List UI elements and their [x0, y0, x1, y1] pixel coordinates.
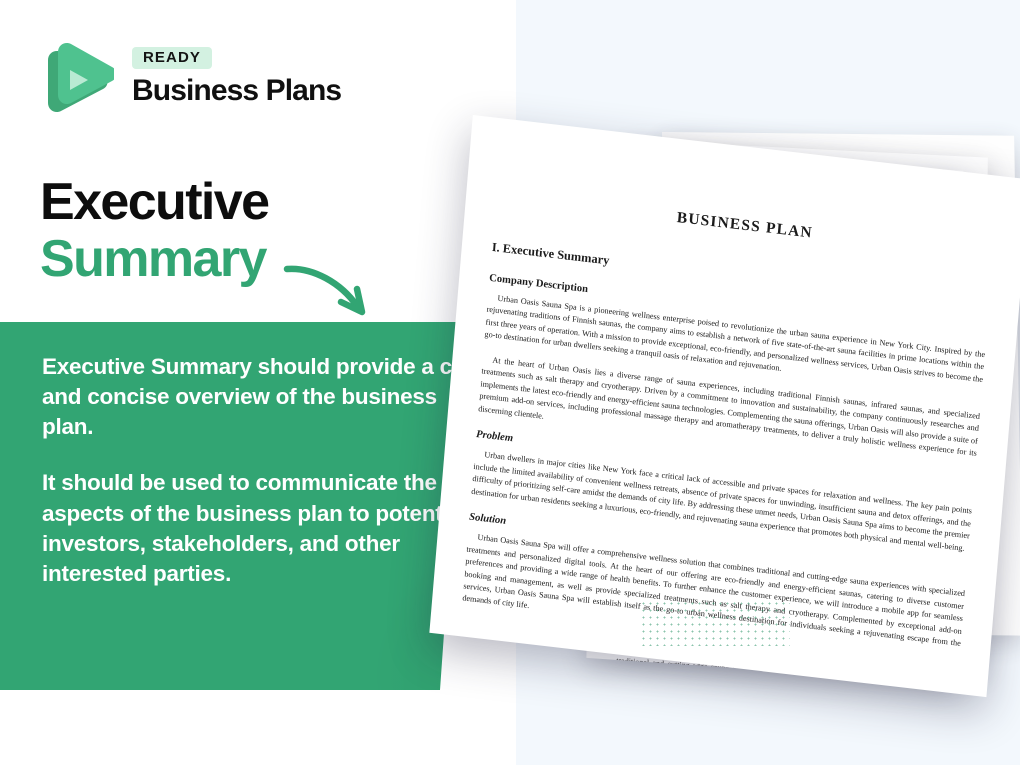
panel-paragraph-2: It should be used to communicate the key… — [42, 468, 494, 589]
document-page-front: BUSINESS PLAN I. Executive Summary Compa… — [429, 115, 1020, 697]
page-title-line-1: Executive — [40, 176, 268, 228]
curved-arrow-down-right-icon — [283, 258, 383, 330]
bottom-white-strip — [0, 690, 516, 765]
page-title: Executive Summary — [40, 176, 268, 287]
panel-copy: Executive Summary should provide a clear… — [42, 352, 494, 589]
brand-logo-text: READY Business Plans — [132, 47, 341, 107]
ready-badge: READY — [132, 47, 212, 69]
brand-logo[interactable]: READY Business Plans — [40, 38, 341, 116]
play-triangle-logo-icon — [40, 38, 114, 116]
slide-canvas: READY Business Plans Executive Summary E… — [0, 0, 1020, 765]
brand-name: Business Plans — [132, 75, 341, 107]
panel-paragraph-1: Executive Summary should provide a clear… — [42, 352, 494, 442]
page-title-line-2: Summary — [40, 232, 268, 287]
